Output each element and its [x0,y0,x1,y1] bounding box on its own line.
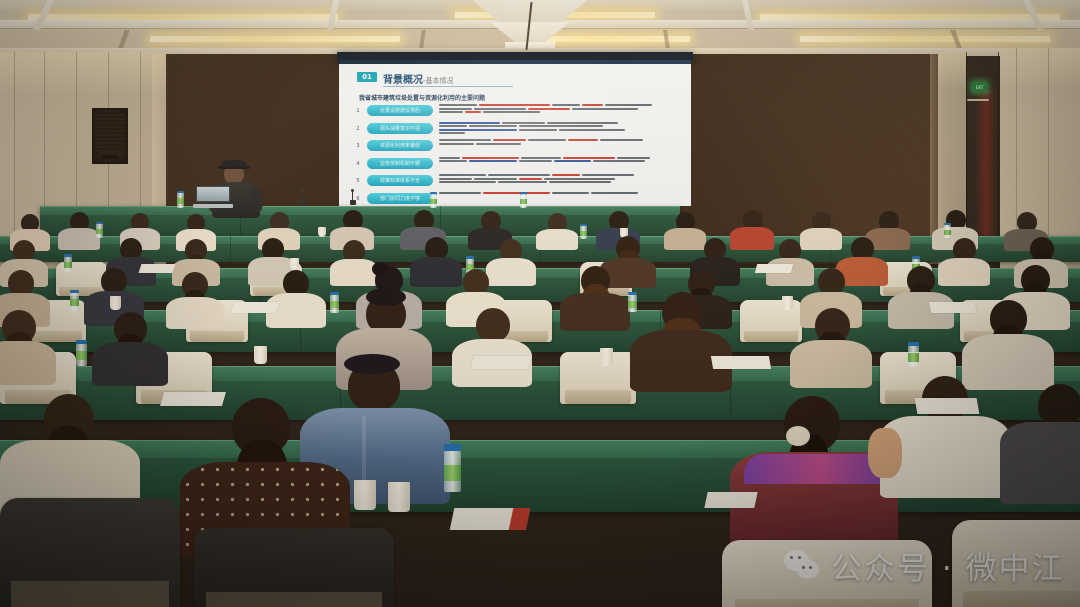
attendee [1000,384,1080,502]
water-bottle[interactable] [76,340,87,366]
wall-fabric-accent [975,90,997,255]
attendee [0,310,56,384]
slide-row-number: 3 [353,143,363,149]
conference-room-photo: EXIT 01 背景概况-基本情况 我省城市建筑垃圾处置与资源化利用的主要问题 … [0,0,1080,607]
hair-clip [344,354,400,374]
attendee [166,272,224,328]
attendee [790,308,872,386]
hair-accessory [366,288,406,306]
attendee [962,300,1054,388]
slide-row-pill-label: 政策标准体系不全 [380,177,420,184]
attendee [452,308,532,386]
slide-row-pill: 资源化利用率偏低 [367,140,433,151]
handout-paper[interactable] [915,398,980,414]
slide-row-number: 2 [353,126,363,132]
hair-tie [786,426,810,446]
slide-row-number: 1 [353,108,363,114]
slide-title-main: 背景概况 [383,75,423,86]
paper-cup[interactable] [354,480,376,510]
attendee [58,212,100,248]
paper-cup[interactable] [600,348,613,366]
attendee [630,292,732,390]
attendee [536,213,578,248]
exit-sign-icon: EXIT [972,82,987,92]
exit-sign-label: EXIT [976,85,984,90]
table-microphone [300,200,306,205]
door-handle[interactable] [967,99,989,101]
table-microphone [350,200,356,205]
water-bottle[interactable] [177,191,184,208]
projection-screen: 01 背景概况-基本情况 我省城市建筑垃圾处置与资源化利用的主要问题 1处置设施… [339,60,691,206]
cove-light [800,36,1051,42]
paper-cup[interactable] [254,346,267,364]
slide-row-pill-label: 源头减量意识不强 [380,125,420,132]
chair[interactable] [0,498,180,607]
paper-cup[interactable] [318,227,326,237]
paper-cup[interactable] [290,258,299,270]
attendee [92,312,168,384]
slide-row-body [439,157,675,164]
slide-title-sub: -基本情况 [423,77,454,85]
slide-title: 背景概况-基本情况 [383,71,454,86]
slide-lead-text: 我省城市建筑垃圾处置与资源化利用的主要问题 [359,93,485,102]
handout-booklet[interactable] [450,508,531,530]
water-bottle[interactable] [64,254,72,272]
chair[interactable] [722,540,932,607]
slide-row-pill: 处置设施建设滞后 [367,105,433,116]
slide-row-body [439,192,675,196]
attendee [880,376,1010,496]
paper-cup[interactable] [110,296,121,310]
chair[interactable] [194,528,394,607]
slide-row-body [439,139,675,146]
slide-row-pill-label: 监管体制机制不顺 [380,160,420,167]
slide-row-body [439,122,675,136]
water-bottle[interactable] [444,444,461,492]
attendee [888,266,954,328]
slide-row-number: 5 [353,178,363,184]
water-bottle[interactable] [520,192,527,208]
slide-row-number: 4 [353,161,363,167]
slide-row-pill: 部门协同力度不够 [367,193,433,204]
water-bottle[interactable] [908,342,919,367]
cove-light [150,36,401,42]
attendee-soldier-jacket [730,400,898,560]
slide-row-pill: 监管体制机制不顺 [367,158,433,169]
slide-section-badge: 01 [357,72,377,82]
water-bottle[interactable] [580,224,587,239]
water-bottle[interactable] [944,223,951,238]
paper-cup[interactable] [388,482,410,512]
water-bottle[interactable] [430,192,437,208]
chair[interactable] [952,520,1080,607]
handout-paper[interactable] [470,356,532,369]
presenter-laptop[interactable] [196,186,230,208]
ceiling [0,0,1080,56]
attendee [560,266,630,330]
slide-row-pill-label: 处置设施建设滞后 [380,107,420,114]
slide-row-body [439,104,675,115]
water-bottle[interactable] [96,222,103,238]
slide-row-body [439,174,675,185]
slide-row-pill-label: 部门协同力度不够 [380,195,420,202]
handout-paper[interactable] [711,356,771,369]
handout-paper[interactable] [704,492,757,508]
handout-paper[interactable] [755,264,793,273]
hair-bun [372,262,388,276]
slide-content: 01 背景概况-基本情况 我省城市建筑垃圾处置与资源化利用的主要问题 1处置设施… [339,60,691,206]
slide-row-pill: 政策标准体系不全 [367,175,433,186]
slide-row-pill-label: 资源化利用率偏低 [380,142,420,149]
handout-paper[interactable] [230,302,280,313]
chair[interactable] [560,352,636,404]
attendee [266,270,326,328]
wall-speaker [92,108,128,164]
slide-row-pill: 源头减量意识不强 [367,123,433,134]
water-bottle[interactable] [70,290,79,311]
